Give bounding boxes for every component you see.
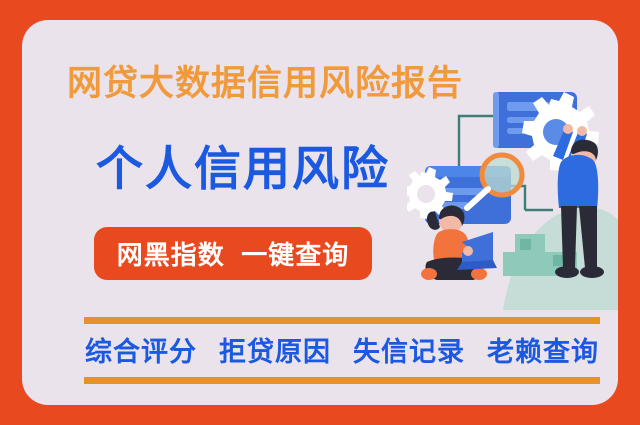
headline-text: 网贷大数据信用风险报告 [67, 60, 463, 108]
query-cta-label: 网黑指数 一键查询 [117, 235, 349, 272]
promo-banner: 网贷大数据信用风险报告 个人信用风险 网黑指数 一键查询 综合评分 拒贷原因 失… [0, 0, 640, 425]
link-dishonesty-record[interactable]: 失信记录 [353, 330, 465, 369]
feature-links-row: 综合评分 拒贷原因 失信记录 老赖查询 [84, 328, 600, 370]
divider-bottom [84, 377, 600, 384]
query-cta-button[interactable]: 网黑指数 一键查询 [94, 227, 372, 280]
link-comprehensive-score[interactable]: 综合评分 [85, 330, 197, 369]
link-defaulter-query[interactable]: 老赖查询 [487, 330, 599, 369]
divider-top [84, 317, 600, 324]
link-loan-rejection-reason[interactable]: 拒贷原因 [219, 330, 331, 369]
page-title: 个人信用风险 [96, 138, 390, 200]
banner-panel: 网贷大数据信用风险报告 个人信用风险 网黑指数 一键查询 综合评分 拒贷原因 失… [22, 20, 618, 405]
illustration [407, 82, 618, 310]
